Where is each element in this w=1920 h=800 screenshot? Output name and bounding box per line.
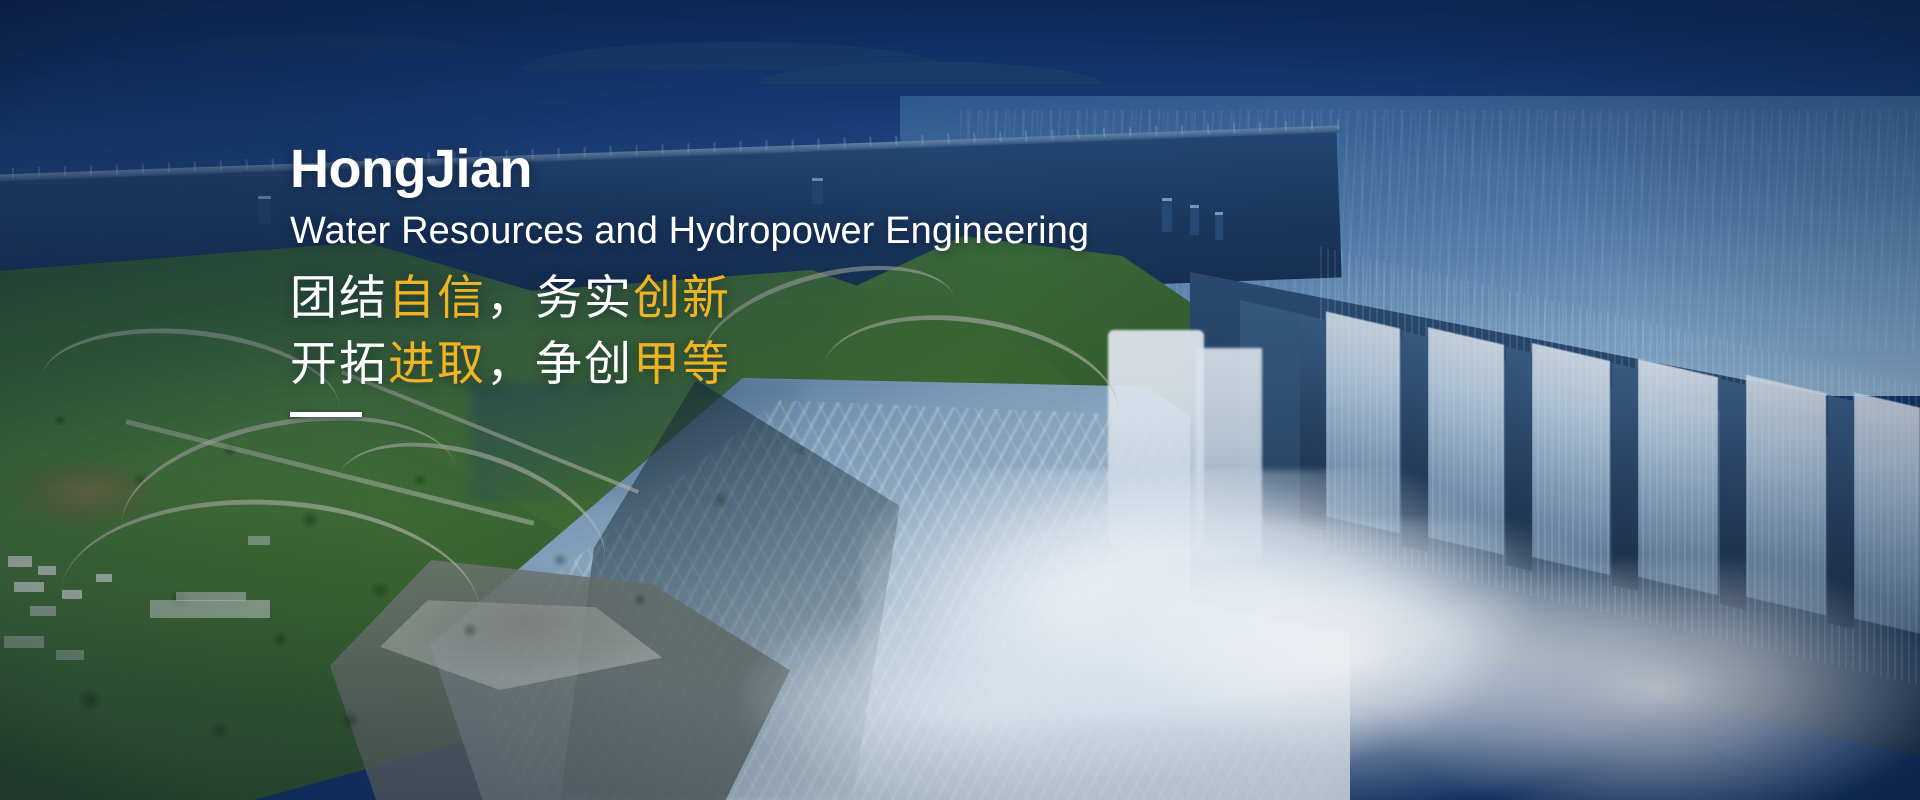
brand-subtitle: Water Resources and Hydropower Engineeri… <box>290 210 1290 253</box>
brand-title: HongJian <box>290 142 1290 196</box>
slogan-1-part-1: 团结 <box>290 271 388 324</box>
slogan-line-1: 团结自信，务实创新 <box>290 265 1290 332</box>
slogan-2-part-2: ，争创 <box>486 337 633 390</box>
slogan-2-accent-2: 甲等 <box>633 337 731 390</box>
hero-copy: HongJian Water Resources and Hydropower … <box>290 142 1290 417</box>
slogan-2-part-1: 开拓 <box>290 337 388 390</box>
slogan-line-2: 开拓进取，争创甲等 <box>290 331 1290 398</box>
slogan-underline-rule <box>290 412 362 417</box>
hero-banner: HongJian Water Resources and Hydropower … <box>0 0 1920 800</box>
slogan-1-part-2: ，务实 <box>486 271 633 324</box>
slogan-1-accent-2: 创新 <box>633 271 731 324</box>
slogan: 团结自信，务实创新 开拓进取，争创甲等 <box>290 265 1290 398</box>
slogan-2-accent-1: 进取 <box>388 337 486 390</box>
slogan-1-accent-1: 自信 <box>388 271 486 324</box>
